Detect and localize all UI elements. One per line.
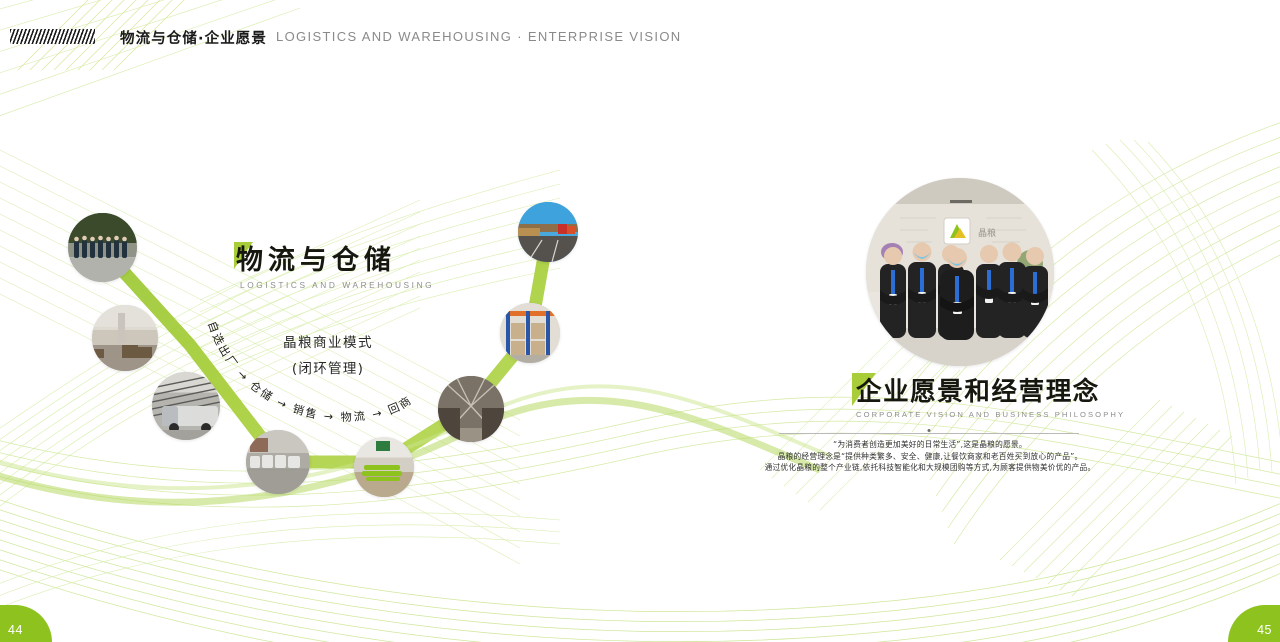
photo-content — [518, 202, 578, 262]
photo-shelves — [92, 305, 158, 371]
photo-yard — [518, 202, 578, 262]
left-section-title: 物流与仓储 LOGISTICS AND WAREHOUSING — [236, 246, 434, 290]
photo-team: 晶粮 — [866, 178, 1054, 366]
page-header: 物流与仓储·企业愿景 LOGISTICS AND WAREHOUSING · E… — [0, 0, 1280, 72]
photo-figures — [68, 213, 137, 282]
vision-line-3: 通过优化晶粮的整个产业链,依托科技智能化和大规模团购等方式,为顾客提供物美价优的… — [740, 462, 1120, 474]
photo-packing — [354, 437, 414, 497]
header-title-en: LOGISTICS AND WAREHOUSING · ENTERPRISE V… — [276, 29, 682, 44]
photo-content: 晶粮 — [866, 178, 1054, 366]
header-title-cn: 物流与仓储·企业愿景 — [120, 27, 267, 48]
title-divider — [779, 433, 1079, 434]
page-number-right: 45 — [1228, 605, 1280, 642]
photo-content — [354, 437, 414, 497]
right-section-title-cn: 企业愿景和经营理念 — [856, 378, 1125, 407]
vision-line-1: “为消费者创造更加美好的日常生活”,这是晶粮的愿景。 — [740, 439, 1120, 451]
flow-text: 自选出厂 → 仓储 → 销售 → 物流 → 回商 — [205, 320, 415, 424]
closed-loop-flow-text: 自选出厂 → 仓储 → 销售 → 物流 → 回商 — [190, 310, 470, 440]
page-number-left-value: 44 — [8, 623, 23, 637]
divider-line — [779, 433, 1079, 434]
brochure-spread: 物流与仓储·企业愿景 LOGISTICS AND WAREHOUSING · E… — [0, 0, 1280, 642]
photo-content — [68, 213, 137, 282]
packing-line-photo — [354, 437, 414, 497]
photo-content — [92, 305, 158, 371]
right-section-title: 企业愿景和经营理念 CORPORATE VISION AND BUSINESS … — [856, 378, 1125, 419]
left-section-title-cn: 物流与仓储 — [236, 246, 434, 275]
svg-text:晶粮: 晶粮 — [978, 227, 996, 239]
page-number-right-value: 45 — [1257, 623, 1272, 637]
management-team-photo: 晶粮 — [866, 178, 1054, 366]
divider-dot-icon — [928, 429, 931, 432]
truck-yard-photo — [518, 202, 578, 262]
page-number-left: 44 — [0, 605, 52, 642]
photo-racking — [500, 303, 560, 363]
pallet-racking-photo — [500, 303, 560, 363]
photo-content — [500, 303, 560, 363]
diagonal-hatch-bar-icon — [10, 29, 95, 44]
vision-line-2: 晶粮的经营理念是“提供种类繁多、安全、健康,让餐饮商家和老百姓买到放心的产品”。 — [740, 451, 1120, 463]
left-section-title-en: LOGISTICS AND WAREHOUSING — [236, 280, 434, 290]
warehouse-interior-photo — [92, 305, 158, 371]
right-section-title-en: CORPORATE VISION AND BUSINESS PHILOSOPHY — [856, 410, 1125, 419]
vision-body-text: “为消费者创造更加美好的日常生活”,这是晶粮的愿景。 晶粮的经营理念是“提供种类… — [740, 439, 1120, 474]
staff-group-outdoor-photo — [68, 213, 137, 282]
